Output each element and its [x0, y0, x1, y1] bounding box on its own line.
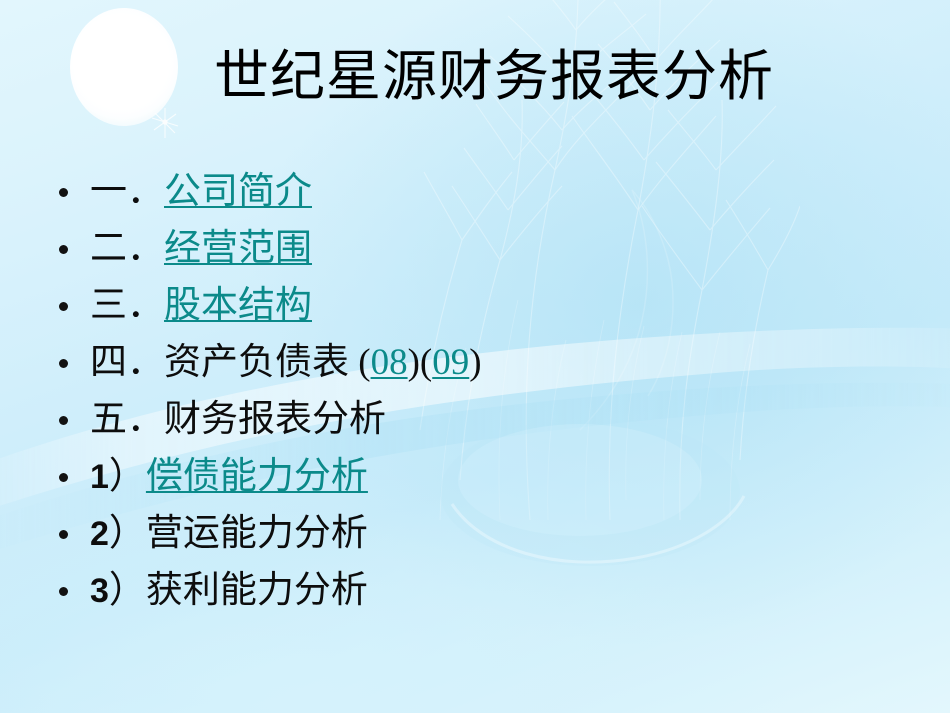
bullet-dot-icon — [59, 473, 68, 482]
bullet-dot-icon — [59, 587, 68, 596]
list-item-text: ）营运能力分析 — [109, 513, 368, 554]
hyperlink[interactable]: 08 — [371, 342, 408, 383]
presentation-slide: 世纪星源财务报表分析 一．公司简介二．经营范围三．股本结构四．资产负债表 (08… — [0, 0, 950, 713]
list-item-text: 一． — [90, 171, 164, 212]
hyperlink[interactable]: 偿债能力分析 — [146, 456, 368, 497]
list-item: 五．财务报表分析 — [46, 394, 906, 451]
list-item-text: )( — [408, 342, 433, 383]
bullet-dot-icon — [59, 359, 68, 368]
agenda-list: 一．公司简介二．经营范围三．股本结构四．资产负债表 (08)(09)五．财务报表… — [46, 166, 906, 622]
hyperlink[interactable]: 经营范围 — [164, 228, 312, 269]
list-item-text: 四．资产负债表 ( — [90, 342, 371, 383]
bullet-dot-icon — [59, 188, 68, 197]
list-item-text: 3 — [90, 572, 109, 610]
list-item: 2）营运能力分析 — [46, 508, 906, 565]
list-item: 四．资产负债表 (08)(09) — [46, 337, 906, 394]
bullet-dot-icon — [59, 245, 68, 254]
list-item-text: 二． — [90, 228, 164, 269]
bullet-dot-icon — [59, 416, 68, 425]
list-item-text: ） — [109, 456, 146, 497]
list-item: 一．公司简介 — [46, 166, 906, 223]
list-item-text: ) — [469, 342, 481, 383]
list-item: 三．股本结构 — [46, 280, 906, 337]
hyperlink[interactable]: 09 — [432, 342, 469, 383]
list-item: 1）偿债能力分析 — [46, 451, 906, 508]
list-item: 3）获利能力分析 — [46, 565, 906, 622]
list-item-text: 五．财务报表分析 — [90, 399, 386, 440]
bullet-dot-icon — [59, 530, 68, 539]
list-item-text: 2 — [90, 515, 109, 553]
hyperlink[interactable]: 股本结构 — [164, 285, 312, 326]
list-item-text: ）获利能力分析 — [109, 570, 368, 611]
bullet-dot-icon — [59, 302, 68, 311]
sparkle-star-icon — [146, 104, 184, 142]
hyperlink[interactable]: 公司简介 — [164, 171, 312, 212]
list-item-text: 1 — [90, 458, 109, 496]
page-title: 世纪星源财务报表分析 — [0, 48, 950, 106]
list-item-text: 三． — [90, 285, 164, 326]
list-item: 二．经营范围 — [46, 223, 906, 280]
